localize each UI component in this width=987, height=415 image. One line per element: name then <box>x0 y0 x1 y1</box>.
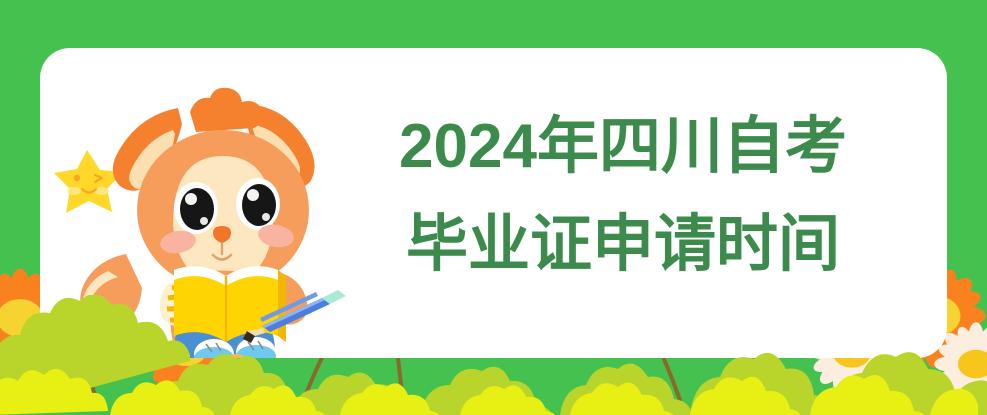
page-title: 2024年四川自考 毕业证申请时间 <box>378 98 868 294</box>
title-line-2: 毕业证申请时间 <box>378 196 868 294</box>
title-line-1: 2024年四川自考 <box>378 98 868 196</box>
bush-layer-light <box>0 369 978 415</box>
banner-root: 2024年四川自考 毕业证申请时间 <box>0 0 987 415</box>
